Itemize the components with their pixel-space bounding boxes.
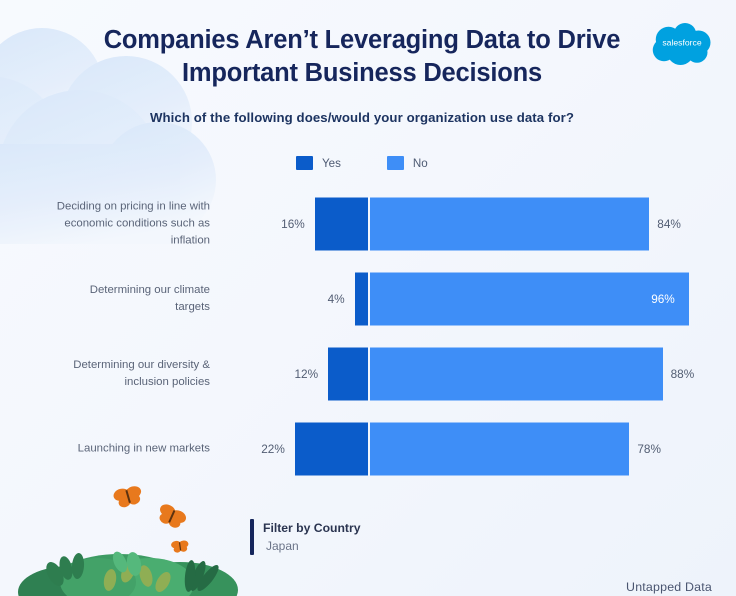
page-subtitle: Which of the following does/would your o…: [88, 110, 636, 125]
legend-swatch-yes: [296, 156, 313, 170]
bar-segment-yes[interactable]: [295, 422, 368, 475]
diverging-bar-chart: Deciding on pricing in line witheconomic…: [0, 186, 736, 486]
category-label: Launching in new markets: [10, 440, 210, 457]
filter-accent-bar: [250, 519, 254, 555]
value-label-no: 84%: [657, 217, 681, 231]
page-title: Companies Aren’t Leveraging Data to Driv…: [88, 24, 636, 90]
legend-swatch-no: [387, 156, 404, 170]
chart-row: Determining our climatetargets4%96%: [0, 261, 736, 336]
legend-label-no: No: [413, 157, 428, 170]
salesforce-cloud-logo: salesforce: [646, 20, 718, 68]
filter-label: Filter by Country: [263, 519, 361, 537]
category-label: Determining our climatetargets: [10, 282, 210, 316]
value-label-yes: 4%: [287, 292, 345, 306]
bar-segment-no[interactable]: [370, 197, 649, 250]
chart-row: Deciding on pricing in line witheconomic…: [0, 186, 736, 261]
value-label-no: 78%: [637, 442, 661, 456]
bar-segment-yes[interactable]: [355, 272, 368, 325]
chart-row: Determining our diversity &inclusion pol…: [0, 336, 736, 411]
value-label-no: 88%: [671, 367, 695, 381]
chart-legend: Yes No: [296, 156, 428, 170]
value-label-no: 96%: [651, 292, 675, 306]
filter-by-country[interactable]: Filter by Country Japan: [250, 519, 361, 555]
infographic-canvas: Companies Aren’t Leveraging Data to Driv…: [0, 0, 736, 596]
legend-label-yes: Yes: [322, 157, 341, 170]
footer-caption: Untapped Data: [626, 580, 712, 594]
category-label: Determining our diversity &inclusion pol…: [10, 357, 210, 391]
chart-row: Launching in new markets22%78%: [0, 411, 736, 486]
legend-item-no[interactable]: No: [387, 156, 428, 170]
bar-segment-no[interactable]: [370, 272, 689, 325]
foliage-bush-illustration: [0, 476, 250, 596]
legend-item-yes[interactable]: Yes: [296, 156, 341, 170]
bar-segment-no[interactable]: [370, 422, 629, 475]
bar-segment-no[interactable]: [370, 347, 663, 400]
salesforce-logo-text: salesforce: [662, 38, 701, 48]
filter-value[interactable]: Japan: [263, 537, 361, 555]
value-label-yes: 12%: [260, 367, 318, 381]
monarch-butterfly-icon: [110, 484, 220, 564]
bar-segment-yes[interactable]: [315, 197, 368, 250]
category-label: Deciding on pricing in line witheconomic…: [10, 198, 210, 249]
value-label-yes: 22%: [227, 442, 285, 456]
bar-segment-yes[interactable]: [328, 347, 368, 400]
value-label-yes: 16%: [247, 217, 305, 231]
